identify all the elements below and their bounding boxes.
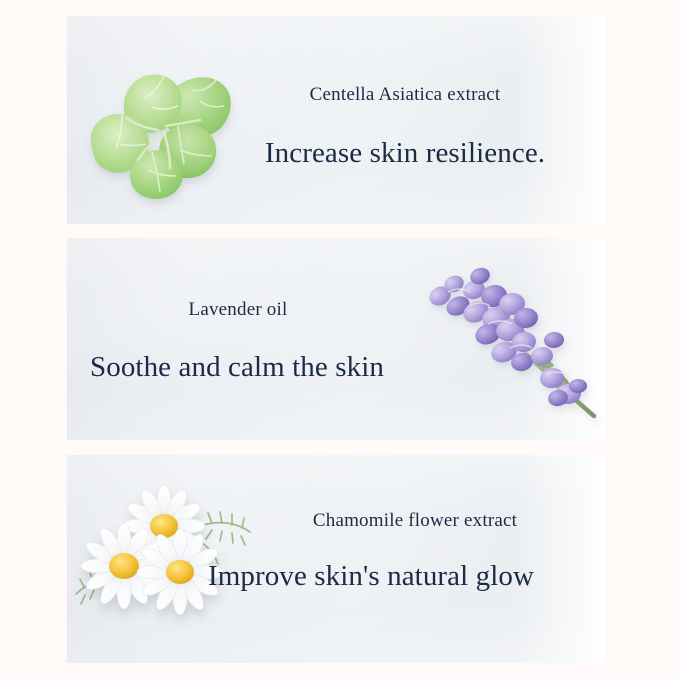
ingredient-benefits-infographic: Centella Asiatica extract Increase skin … xyxy=(0,0,679,679)
panel-sheen xyxy=(67,16,605,224)
ingredient-panel-lavender xyxy=(67,238,605,440)
ingredient-panel-centella xyxy=(67,16,605,224)
panel-eyebrow-lavender: Lavender oil xyxy=(118,300,358,321)
panel-eyebrow-chamomile: Chamomile flower extract xyxy=(250,511,580,532)
ingredient-panel-chamomile xyxy=(67,455,605,663)
panel-sheen xyxy=(67,238,605,440)
panel-headline-lavender: Soothe and calm the skin xyxy=(90,352,430,384)
panel-sheen xyxy=(67,455,605,663)
panel-eyebrow-centella: Centella Asiatica extract xyxy=(240,85,570,106)
panel-headline-chamomile: Improve skin's natural glow xyxy=(208,561,588,593)
panel-headline-centella: Increase skin resilience. xyxy=(210,138,600,170)
